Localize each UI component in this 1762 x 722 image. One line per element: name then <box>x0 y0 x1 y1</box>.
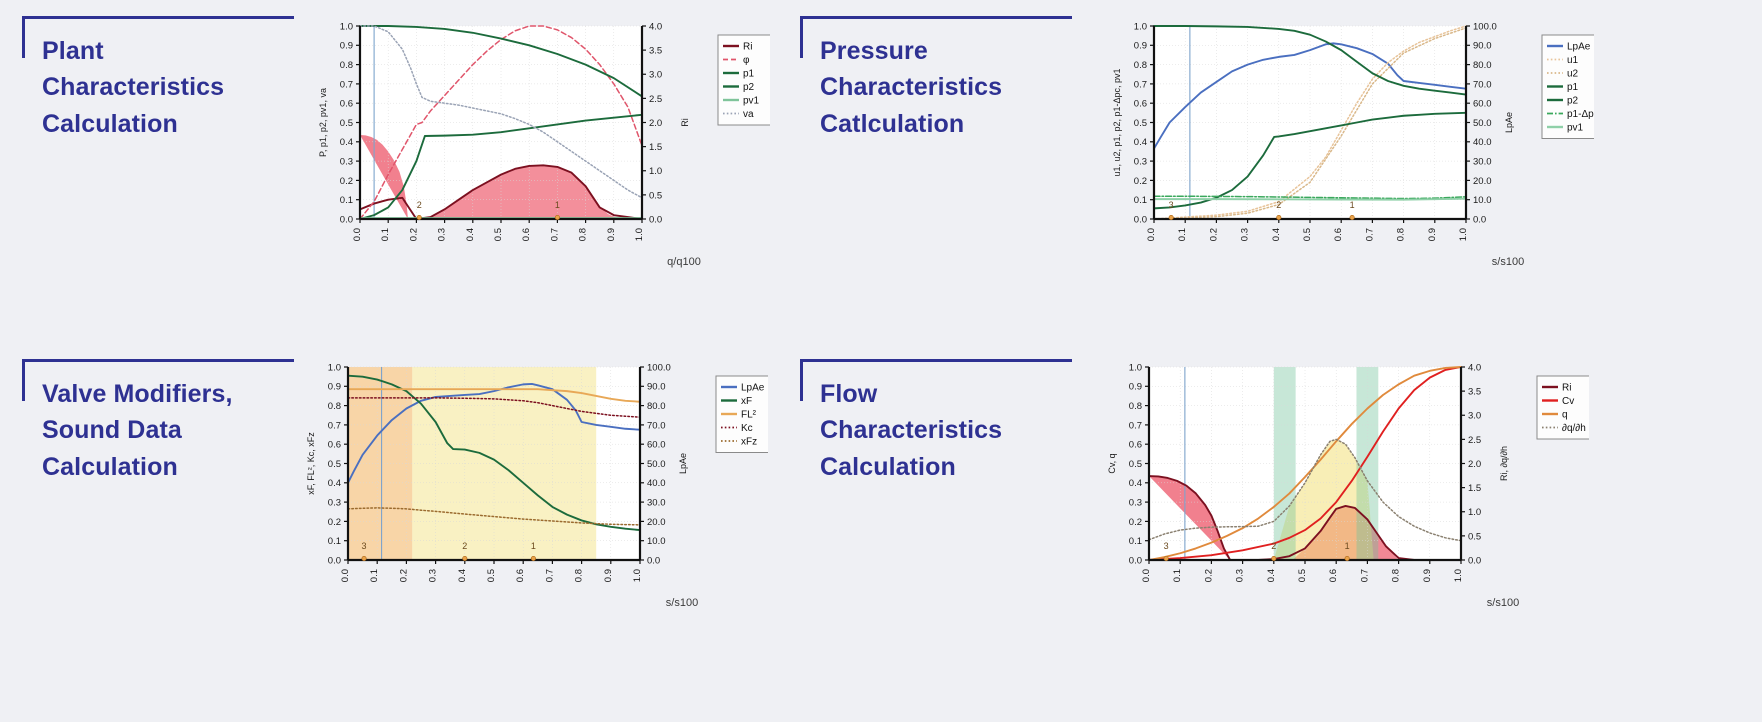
y2-tick-label: 50.0 <box>1473 118 1492 129</box>
marker-label: 3 <box>1164 541 1169 551</box>
y2-axis-label: Ri, ∂q/∂h <box>1499 446 1509 481</box>
marker-dot <box>1272 556 1276 560</box>
legend-label: p1-Δpc <box>1567 109 1594 120</box>
y2-tick-label: 0.0 <box>1468 555 1481 566</box>
marker-dot <box>362 556 366 560</box>
title-line: Calculation <box>820 449 1072 485</box>
y2-tick-label: 2.5 <box>649 94 662 105</box>
legend-label: u2 <box>1567 68 1579 79</box>
y-tick-label: 1.0 <box>340 21 353 32</box>
y-axis-label: Cv, q <box>1107 453 1117 473</box>
y-tick-label: 0.0 <box>328 555 341 566</box>
y-tick-label: 0.8 <box>1129 401 1142 412</box>
panel-valve: Valve Modifiers, Sound Data Calculation … <box>0 341 794 722</box>
x-tick-label: 0.2 <box>398 569 409 582</box>
y2-tick-label: 4.0 <box>1468 362 1481 373</box>
chart-plant[interactable]: 0.00.10.20.30.40.50.60.70.80.91.00.00.51… <box>300 12 770 277</box>
title-line: Characteristics <box>820 412 1072 448</box>
legend-label: p2 <box>743 82 755 93</box>
y2-tick-label: 80.0 <box>647 401 666 412</box>
x-tick-label: 0.0 <box>1141 569 1152 582</box>
title-line: Characteristics <box>820 69 1072 105</box>
legend-label: q <box>1562 409 1568 420</box>
y2-tick-label: 40.0 <box>647 478 666 489</box>
x-tick-label: 0.8 <box>1396 228 1407 241</box>
x-tick-label: 0.6 <box>1333 228 1344 241</box>
y2-tick-label: 3.5 <box>1468 387 1481 398</box>
y-tick-label: 0.6 <box>1129 440 1142 451</box>
x-tick-label: 0.8 <box>578 228 589 241</box>
title-line: Catlculation <box>820 106 1072 142</box>
marker-dot <box>1277 215 1281 219</box>
x-tick-label: 1.0 <box>632 569 643 582</box>
y-axis-label: xF, FL², Kc, xFz <box>306 432 316 495</box>
series-pv1 <box>1154 199 1466 200</box>
x-tick-label: 0.5 <box>486 569 497 582</box>
x-axis-label: s/s100 <box>1492 256 1524 268</box>
x-tick-label: 0.7 <box>549 228 560 241</box>
y-tick-label: 0.5 <box>328 459 341 470</box>
panel-pressure: Pressure Characteristics Catlculation 0.… <box>794 0 1762 341</box>
y2-tick-label: 0.0 <box>1473 214 1486 225</box>
x-tick-label: 0.9 <box>603 569 614 582</box>
legend-label: p1 <box>1567 82 1579 93</box>
y2-tick-label: 1.5 <box>1468 483 1481 494</box>
marker-dot <box>555 215 559 219</box>
legend-label: ∂q/∂h <box>1562 423 1586 434</box>
y-tick-label: 0.2 <box>1134 176 1147 187</box>
y-tick-label: 0.5 <box>1129 459 1142 470</box>
y2-tick-label: 1.0 <box>1468 507 1481 518</box>
y-tick-label: 0.7 <box>328 420 341 431</box>
x-tick-label: 0.0 <box>352 228 363 241</box>
y-tick-label: 0.3 <box>1129 498 1142 509</box>
y-tick-label: 0.0 <box>1129 555 1142 566</box>
y-tick-label: 0.0 <box>1134 214 1147 225</box>
title-rule-left <box>800 359 803 401</box>
x-tick-label: 0.4 <box>1266 569 1277 582</box>
title-line: Flow <box>820 376 1072 412</box>
y-tick-label: 0.3 <box>328 498 341 509</box>
y-tick-label: 0.0 <box>340 214 353 225</box>
title-rule-top <box>22 16 294 19</box>
x-tick-label: 0.2 <box>408 228 419 241</box>
panel-title-flow: Flow Characteristics Calculation <box>820 376 1072 485</box>
y-tick-label: 0.7 <box>1134 79 1147 90</box>
legend-label: Kc <box>741 423 753 434</box>
y-tick-label: 0.7 <box>340 79 353 90</box>
legend-label: pv1 <box>743 95 760 106</box>
legend-label: xFz <box>741 436 757 447</box>
y-tick-label: 0.8 <box>340 60 353 71</box>
slide-grid: Plant Characteristics Calculation 0.00.1… <box>0 0 1762 722</box>
title-line: Pressure <box>820 33 1072 69</box>
y-tick-label: 0.9 <box>340 41 353 52</box>
title-rule-left <box>22 16 25 58</box>
y-tick-label: 0.1 <box>328 536 341 547</box>
y-tick-label: 1.0 <box>328 362 341 373</box>
y2-tick-label: 90.0 <box>647 382 666 393</box>
y-tick-label: 0.5 <box>340 118 353 129</box>
title-rule-top <box>800 359 1072 362</box>
y-tick-label: 0.6 <box>1134 99 1147 110</box>
y2-tick-label: 2.0 <box>1468 459 1481 470</box>
title-line: Calculation <box>42 106 294 142</box>
y-tick-label: 0.1 <box>1129 536 1142 547</box>
x-tick-label: 0.4 <box>465 228 476 241</box>
x-tick-label: 1.0 <box>1453 569 1464 582</box>
y2-tick-label: 100.0 <box>647 362 671 373</box>
x-tick-label: 0.2 <box>1208 228 1219 241</box>
legend-label: Ri <box>1562 382 1571 393</box>
y2-tick-label: 4.0 <box>649 21 662 32</box>
y2-tick-label: 90.0 <box>1473 41 1492 52</box>
marker-label: 1 <box>1350 200 1355 210</box>
y2-tick-label: 70.0 <box>1473 79 1492 90</box>
y2-tick-label: 20.0 <box>1473 176 1492 187</box>
y-tick-label: 0.1 <box>340 195 353 206</box>
marker-dot <box>1345 556 1349 560</box>
title-line: Valve Modifiers, <box>42 376 294 412</box>
y2-tick-label: 30.0 <box>1473 157 1492 168</box>
marker-label: 1 <box>555 200 560 210</box>
x-tick-label: 1.0 <box>634 228 645 241</box>
legend-label: p1 <box>743 68 755 79</box>
y2-tick-label: 3.0 <box>1468 411 1481 422</box>
x-tick-label: 0.6 <box>1328 569 1339 582</box>
x-tick-label: 0.1 <box>380 228 391 241</box>
x-axis-label: s/s100 <box>1487 597 1519 609</box>
marker-label: 1 <box>531 541 536 551</box>
panel-flow: Flow Characteristics Calculation 0.00.10… <box>794 341 1762 722</box>
x-tick-label: 0.4 <box>1271 228 1282 241</box>
y-tick-label: 0.6 <box>328 440 341 451</box>
y2-tick-label: 60.0 <box>647 440 666 451</box>
y2-tick-label: 10.0 <box>647 536 666 547</box>
legend-label: LpAe <box>1567 41 1591 52</box>
x-tick-label: 0.3 <box>1235 569 1246 582</box>
title-block-plant: Plant Characteristics Calculation <box>22 16 294 142</box>
legend-label: φ <box>743 55 750 66</box>
y2-tick-label: 40.0 <box>1473 137 1492 148</box>
x-tick-label: 0.6 <box>521 228 532 241</box>
title-line: Plant <box>42 33 294 69</box>
x-tick-label: 0.0 <box>340 569 351 582</box>
y2-tick-label: 10.0 <box>1473 195 1492 206</box>
y-tick-label: 1.0 <box>1129 362 1142 373</box>
y2-tick-label: 0.5 <box>649 190 662 201</box>
x-tick-label: 0.7 <box>544 569 555 582</box>
x-tick-label: 0.7 <box>1364 228 1375 241</box>
x-tick-label: 0.1 <box>1172 569 1183 582</box>
title-line: Sound Data <box>42 412 294 448</box>
y-tick-label: 0.1 <box>1134 195 1147 206</box>
chart-plant-svg: 0.00.10.20.30.40.50.60.70.80.91.00.00.51… <box>300 12 770 277</box>
x-axis-label: q/q100 <box>667 256 701 268</box>
x-tick-label: 0.9 <box>1427 228 1438 241</box>
marker-dot <box>531 556 535 560</box>
x-tick-label: 0.3 <box>428 569 439 582</box>
y-tick-label: 0.8 <box>328 401 341 412</box>
legend-label: Ri <box>743 41 752 52</box>
legend-label: va <box>743 109 754 120</box>
y-tick-label: 0.4 <box>340 137 353 148</box>
legend-label: u1 <box>1567 55 1579 66</box>
chart-flow-svg: 0.00.10.20.30.40.50.60.70.80.91.00.00.51… <box>1089 353 1589 618</box>
y-tick-label: 0.4 <box>1134 137 1147 148</box>
legend-label: Cv <box>1562 396 1574 407</box>
x-tick-label: 1.0 <box>1458 228 1469 241</box>
y-tick-label: 0.9 <box>328 382 341 393</box>
chart-flow[interactable]: 0.00.10.20.30.40.50.60.70.80.91.00.00.51… <box>1089 353 1589 618</box>
y2-axis-label: LpAe <box>678 453 688 474</box>
x-tick-label: 0.5 <box>493 228 504 241</box>
x-tick-label: 0.1 <box>369 569 380 582</box>
y2-axis-label: LpAe <box>1504 112 1514 133</box>
y-tick-label: 0.7 <box>1129 420 1142 431</box>
y2-tick-label: 80.0 <box>1473 60 1492 71</box>
x-tick-label: 0.4 <box>457 569 468 582</box>
x-tick-label: 0.6 <box>515 569 526 582</box>
marker-label: 3 <box>362 541 367 551</box>
marker-dot <box>1350 215 1354 219</box>
chart-valve-svg: 0.00.10.20.30.40.50.60.70.80.91.00.010.0… <box>288 353 768 618</box>
title-line: Calculation <box>42 449 294 485</box>
y2-tick-label: 1.0 <box>649 166 662 177</box>
title-rule-left <box>800 16 803 58</box>
panel-plant: Plant Characteristics Calculation 0.00.1… <box>0 0 794 341</box>
y2-tick-label: 2.5 <box>1468 435 1481 446</box>
x-tick-label: 0.5 <box>1297 569 1308 582</box>
x-tick-label: 0.8 <box>1391 569 1402 582</box>
legend-label: LpAe <box>741 382 765 393</box>
title-rule-top <box>800 16 1072 19</box>
y-tick-label: 1.0 <box>1134 21 1147 32</box>
chart-valve[interactable]: 0.00.10.20.30.40.50.60.70.80.91.00.010.0… <box>288 353 768 618</box>
title-block-pressure: Pressure Characteristics Catlculation <box>800 16 1072 142</box>
title-rule-top <box>22 359 294 362</box>
y2-tick-label: 100.0 <box>1473 21 1497 32</box>
y-tick-label: 0.4 <box>1129 478 1142 489</box>
x-tick-label: 0.8 <box>574 569 585 582</box>
panel-title-plant: Plant Characteristics Calculation <box>42 33 294 142</box>
title-rule-left <box>22 359 25 401</box>
y-tick-label: 0.8 <box>1134 60 1147 71</box>
y-axis-label: P, p1, p2, pv1, va <box>318 88 328 157</box>
title-line: Characteristics <box>42 69 294 105</box>
x-tick-label: 0.3 <box>437 228 448 241</box>
marker-label: 1 <box>1345 541 1350 551</box>
y-tick-label: 0.2 <box>340 176 353 187</box>
title-block-valve: Valve Modifiers, Sound Data Calculation <box>22 359 294 485</box>
y-tick-label: 0.2 <box>1129 517 1142 528</box>
x-tick-label: 0.3 <box>1240 228 1251 241</box>
marker-dot <box>417 215 421 219</box>
panel-title-pressure: Pressure Characteristics Catlculation <box>820 33 1072 142</box>
title-block-flow: Flow Characteristics Calculation <box>800 359 1072 485</box>
y2-tick-label: 3.5 <box>649 46 662 57</box>
chart-pressure-svg: 0.00.10.20.30.40.50.60.70.80.91.00.010.0… <box>1094 12 1594 277</box>
legend-label: xF <box>741 396 752 407</box>
y2-tick-label: 60.0 <box>1473 99 1492 110</box>
legend-label: FL² <box>741 409 757 420</box>
marker-dot <box>1164 556 1168 560</box>
y-tick-label: 0.9 <box>1134 41 1147 52</box>
y-tick-label: 0.2 <box>328 517 341 528</box>
y-tick-label: 0.3 <box>1134 157 1147 168</box>
y-tick-label: 0.5 <box>1134 118 1147 129</box>
x-tick-label: 0.0 <box>1146 228 1157 241</box>
panel-title-valve: Valve Modifiers, Sound Data Calculation <box>42 376 294 485</box>
x-tick-label: 0.7 <box>1359 569 1370 582</box>
marker-label: 2 <box>1271 541 1276 551</box>
marker-label: 2 <box>417 200 422 210</box>
y2-tick-label: 50.0 <box>647 459 666 470</box>
x-tick-label: 0.9 <box>606 228 617 241</box>
y2-tick-label: 0.0 <box>647 555 660 566</box>
y2-tick-label: 1.5 <box>649 142 662 153</box>
y-tick-label: 0.3 <box>340 157 353 168</box>
marker-label: 2 <box>462 541 467 551</box>
y2-tick-label: 2.0 <box>649 118 662 129</box>
y-tick-label: 0.6 <box>340 99 353 110</box>
y2-tick-label: 0.5 <box>1468 531 1481 542</box>
x-tick-label: 0.2 <box>1203 569 1214 582</box>
marker-label: 3 <box>1169 200 1174 210</box>
legend-label: pv1 <box>1567 122 1584 133</box>
x-axis-label: s/s100 <box>666 597 698 609</box>
y-tick-label: 0.4 <box>328 478 341 489</box>
chart-pressure[interactable]: 0.00.10.20.30.40.50.60.70.80.91.00.010.0… <box>1094 12 1594 277</box>
y2-axis-label: Ri <box>680 118 690 127</box>
y2-tick-label: 30.0 <box>647 498 666 509</box>
y-tick-label: 0.9 <box>1129 382 1142 393</box>
x-tick-label: 0.1 <box>1177 228 1188 241</box>
y-axis-label: u1, u2, p1, p2, p1-Δpc, pv1 <box>1112 68 1122 176</box>
marker-dot <box>463 556 467 560</box>
x-tick-label: 0.9 <box>1422 569 1433 582</box>
y2-tick-label: 3.0 <box>649 70 662 81</box>
y2-tick-label: 70.0 <box>647 420 666 431</box>
x-tick-label: 0.5 <box>1302 228 1313 241</box>
marker-dot <box>1169 215 1173 219</box>
y2-tick-label: 20.0 <box>647 517 666 528</box>
y2-tick-label: 0.0 <box>649 214 662 225</box>
legend-label: p2 <box>1567 95 1579 106</box>
marker-label: 2 <box>1276 200 1281 210</box>
